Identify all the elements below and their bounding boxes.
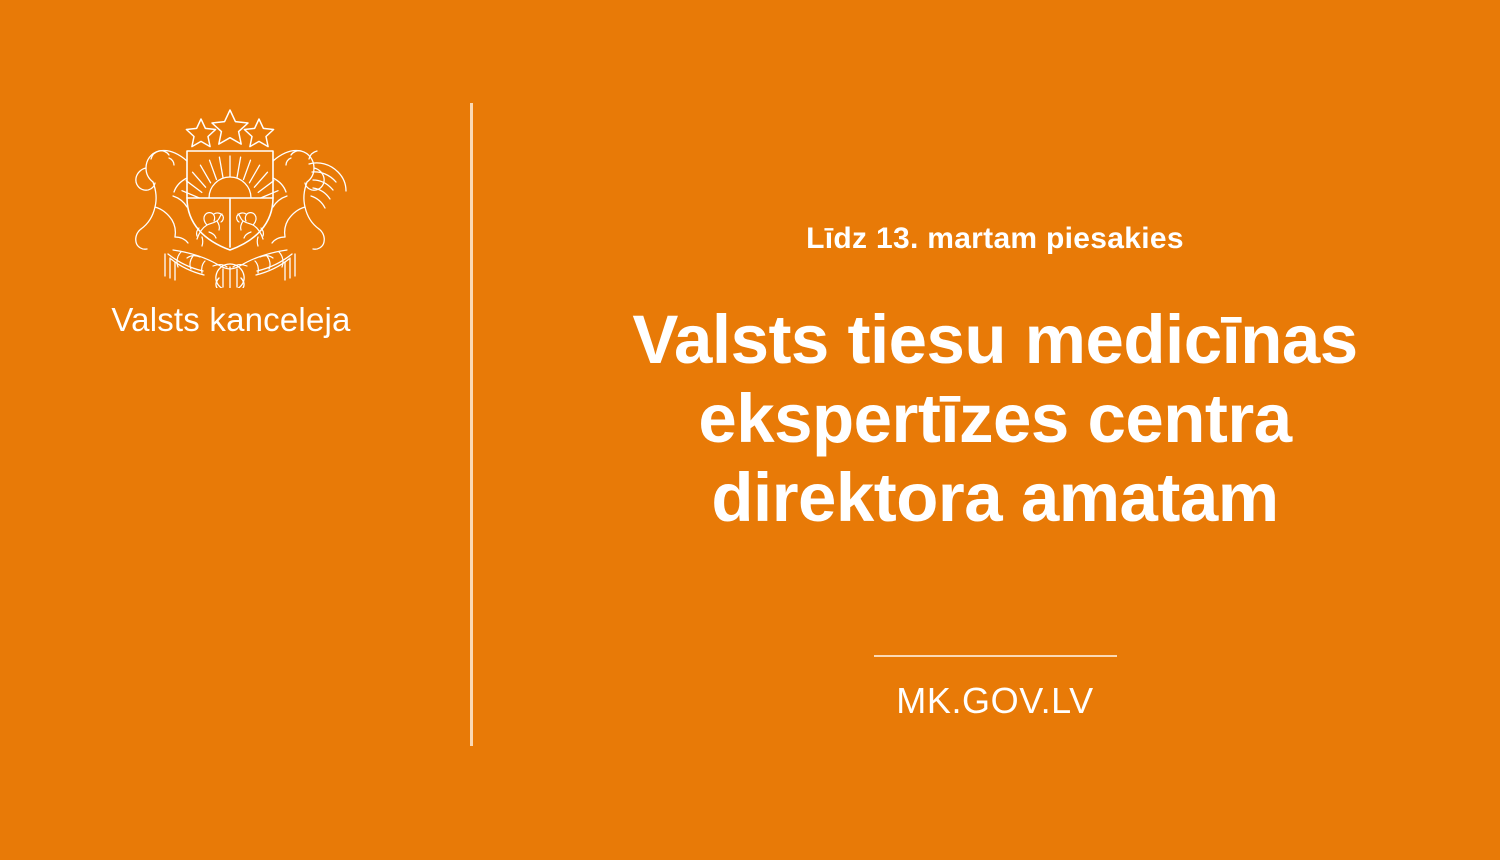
headline-line-2: ekspertīzes centra bbox=[495, 379, 1495, 458]
latvia-coat-of-arms-icon bbox=[113, 106, 347, 288]
brand-name: Valsts kanceleja bbox=[0, 300, 462, 340]
headline-line-1: Valsts tiesu medicīnas bbox=[495, 300, 1495, 379]
brand-block: Valsts kanceleja bbox=[0, 0, 470, 860]
headline: Valsts tiesu medicīnas ekspertīzes centr… bbox=[495, 300, 1495, 537]
promo-poster: Valsts kanceleja Līdz 13. martam piesaki… bbox=[0, 0, 1500, 860]
content-block: Līdz 13. martam piesakies Valsts tiesu m… bbox=[495, 0, 1500, 860]
headline-line-3: direktora amatam bbox=[495, 458, 1495, 537]
footer-block: MK.GOV.LV bbox=[495, 655, 1495, 722]
site-url[interactable]: MK.GOV.LV bbox=[495, 680, 1495, 722]
eyebrow-text: Līdz 13. martam piesakies bbox=[495, 220, 1495, 258]
vertical-divider bbox=[470, 103, 473, 746]
horizontal-divider bbox=[874, 655, 1117, 657]
